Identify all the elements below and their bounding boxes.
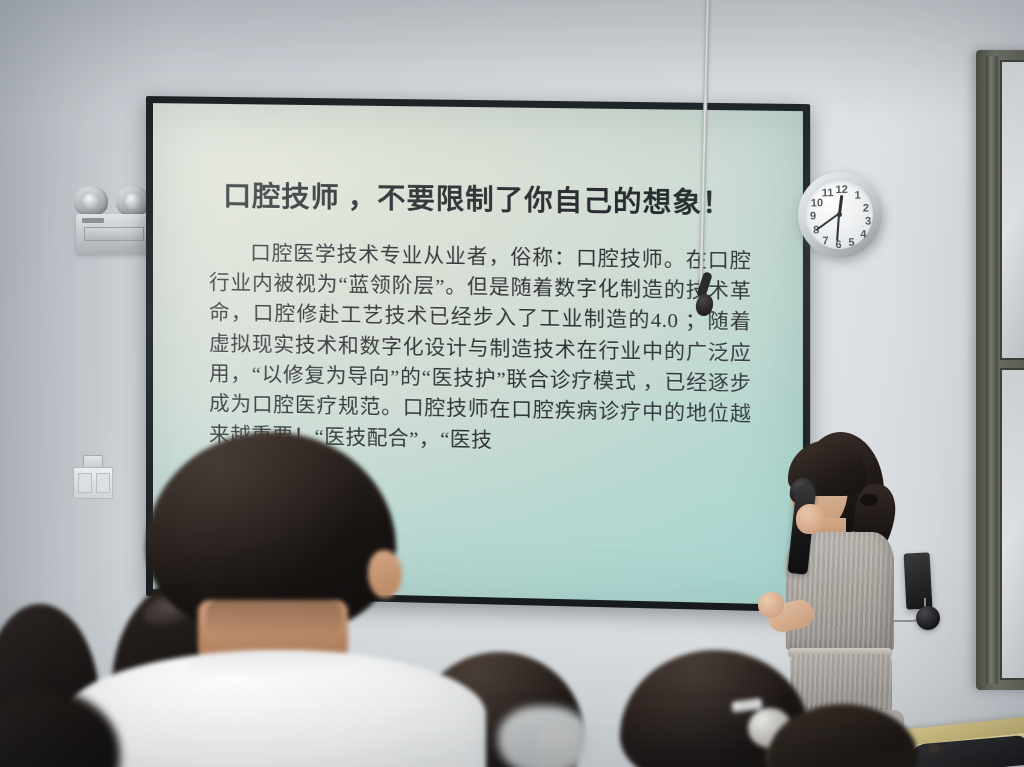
presenter-hand-holding-mic <box>796 504 824 534</box>
clock-numeral-11: 11 <box>822 187 834 199</box>
clock-numeral-5: 5 <box>845 237 857 249</box>
clock-numeral-7: 7 <box>819 235 831 247</box>
podium-knob <box>928 744 940 753</box>
clock-numeral-2: 2 <box>860 202 872 214</box>
wall-switch-panel[interactable] <box>73 455 113 499</box>
window-mullion <box>986 56 998 684</box>
presenter-free-hand <box>758 592 784 618</box>
clock-numeral-9: 9 <box>807 210 819 222</box>
clock-numeral-3: 3 <box>862 215 874 227</box>
presenter-hair-tie <box>860 494 878 506</box>
clock-center-pin <box>836 211 841 216</box>
audience-head-right-edge <box>768 704 918 767</box>
clock-minute-hand <box>836 214 840 241</box>
face-mask-shape <box>498 706 590 767</box>
audience-foreground-head <box>0 690 120 767</box>
audience-man-neck-shadow <box>206 600 342 636</box>
audience-man-white-tshirt <box>118 432 448 767</box>
audience-face-mask <box>498 706 590 767</box>
clock-second-hand <box>816 213 840 231</box>
window-pane-bottom <box>1000 368 1024 680</box>
slide-body-text: 口腔医学技术专业从业者，俗称：口腔技师。在口腔行业内被视为“蓝领阶层”。但是随着… <box>209 238 758 462</box>
classroom-photo-scene: 口腔技师 ，不要限制了你自己的想象！ 口腔医学技术专业从业者，俗称：口腔技师。在… <box>0 0 1024 767</box>
window-pane-top <box>1000 60 1024 360</box>
clock-numeral-4: 4 <box>857 228 869 240</box>
emergency-lamp-right <box>116 186 150 216</box>
audience-man-collar <box>190 650 360 676</box>
mic-capsule <box>694 292 715 317</box>
audience-man-ear <box>368 550 402 598</box>
clock-numeral-1: 1 <box>852 190 864 202</box>
hanging-microphone-head-icon <box>692 272 718 324</box>
audience-hair <box>0 690 120 767</box>
right-wall-window <box>976 50 1024 690</box>
clock-face: 12 1 2 3 4 5 6 7 8 9 10 11 <box>804 178 873 249</box>
emergency-lamp-left <box>74 186 108 216</box>
emergency-light-body <box>76 214 156 254</box>
audience-hair <box>768 704 918 767</box>
slide-title: 口腔技师 ，不要限制了你自己的想象！ <box>209 180 758 222</box>
wall-clock: 12 1 2 3 4 5 6 7 8 9 10 11 <box>797 171 882 258</box>
clock-numeral-6: 6 <box>832 239 844 251</box>
wall-switch-plate <box>73 467 113 499</box>
